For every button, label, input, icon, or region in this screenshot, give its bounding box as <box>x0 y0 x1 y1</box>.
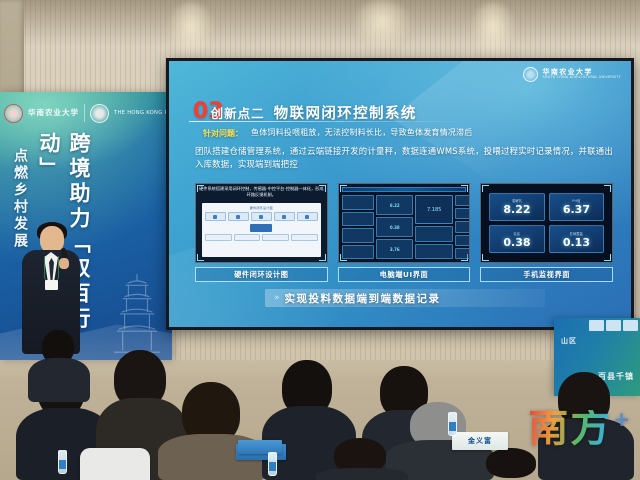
dashboard-tile <box>455 195 470 206</box>
metric-value: 6.37 <box>563 204 590 215</box>
dashboard-col-4 <box>455 195 470 259</box>
diagram-node <box>228 212 249 221</box>
signage-text-1: 山区 <box>561 336 577 346</box>
audience-chair <box>80 448 150 480</box>
dashboard-metric: 8.22 <box>376 195 413 215</box>
dashboard-title-bar <box>342 187 467 192</box>
slide-logo-en: SOUTH CHINA AGRICULTURAL UNIVERSITY <box>542 76 621 80</box>
panel-corner-br <box>604 254 611 261</box>
dashboard-col-3: 7.185 <box>415 195 452 259</box>
panel-phone-monitor: 溶解氧 8.22 PH值 6.37 氨氮 0.38 亚硝酸盐 <box>480 183 613 263</box>
metric-value: 8.22 <box>503 204 530 215</box>
speaker-badge <box>45 280 58 290</box>
metric-label: 亚硝酸盐 <box>570 231 584 236</box>
audience-member <box>470 448 556 480</box>
diagram-node <box>274 212 295 221</box>
scau-seal-icon <box>4 104 23 123</box>
dashboard-tile <box>342 245 374 260</box>
banner-text: 实现投料数据端到端数据记录 <box>285 291 441 306</box>
audience-member <box>158 382 266 480</box>
polyu-seal-icon <box>90 104 109 123</box>
panel1-diagram-title: 硬件闭环设计图 <box>205 206 318 210</box>
slide-logo-text: 华南农业大学 SOUTH CHINA AGRICULTURAL UNIVERSI… <box>542 69 621 80</box>
panel-hardware-diagram: 硬件系统搭建采用闭环控制，传感器-中控平台-控制器一体化，形成环路反馈机制。 硬… <box>195 183 328 263</box>
bottle-label <box>449 422 456 431</box>
metric-value: 0.38 <box>503 237 530 248</box>
water-bottle <box>448 412 457 436</box>
bottle-label <box>269 462 276 471</box>
water-bottle <box>268 452 277 476</box>
audience-member <box>28 330 90 400</box>
metric-card: 氨氮 0.38 <box>489 225 544 253</box>
speaker-hand <box>59 258 69 269</box>
dashboard-metric: 3.76 <box>376 239 413 259</box>
dashboard-tile <box>342 195 374 210</box>
diagram-node <box>234 234 261 241</box>
metric-value: 0.13 <box>563 237 590 248</box>
audience-head <box>486 448 536 478</box>
nameplate: 金义富 <box>452 432 508 450</box>
panel-corner-tl <box>482 185 489 192</box>
dashboard-tile <box>455 208 470 219</box>
panel-corner-tr <box>604 185 611 192</box>
problem-text: 鱼体饲料投喂粗放，无法控制料长比，导致鱼体发育情况滞后 <box>251 127 472 139</box>
ceiling-shadow <box>0 0 640 46</box>
slide-title-underline <box>189 121 469 122</box>
nameplate-text: 金义富 <box>468 436 492 446</box>
signage-thumbnail <box>589 320 604 331</box>
caption-phone-ui: 手机监视界面 <box>480 267 613 282</box>
diagram-central-hub <box>250 224 272 232</box>
news-watermark: 南方+ <box>528 410 632 446</box>
metric-card: PH值 6.37 <box>549 193 605 221</box>
dashboard-tile <box>415 226 452 242</box>
metric-label: 氨氮 <box>514 231 521 236</box>
diagram-node <box>205 212 226 221</box>
backdrop-logo-right-label: THE HONG KONG POLYTECHNIC UNIVERSITY <box>114 110 172 117</box>
signage-thumbnail <box>623 320 638 331</box>
panel1-header-text: 硬件系统搭建采用闭环控制，传感器-中控平台-控制器一体化，形成环路反馈机制。 <box>199 186 324 199</box>
metric-card: 溶解氧 8.22 <box>489 193 544 221</box>
solution-text: 团队搭建仓储管理系统，通过云端链接开发的计量秤，数据连通WMS系统，投喂过程实时… <box>195 145 613 172</box>
backdrop-logo-row: 华南农业大学 THE HONG KONG POLYTECHNIC UNIVERS… <box>4 98 168 128</box>
diagram-node <box>262 234 289 241</box>
panel1-node-row-1 <box>205 212 318 221</box>
slide-kicker: 创新点二 <box>211 103 265 122</box>
slide-panel-row: 硬件系统搭建采用闭环控制，传感器-中控平台-控制器一体化，形成环路反馈机制。 硬… <box>195 183 613 263</box>
watermark-text: 南方 <box>528 410 612 446</box>
diagram-node <box>291 234 318 241</box>
caption-pc-ui: 电脑端UI界面 <box>338 267 471 282</box>
metric-card: 亚硝酸盐 0.13 <box>549 225 605 253</box>
diagram-node <box>251 212 272 221</box>
speaker-lanyard <box>44 256 59 282</box>
watermark-plus: + <box>613 410 632 428</box>
presentation-photo-scene: 华南农业大学 THE HONG KONG POLYTECHNIC UNIVERS… <box>0 0 640 480</box>
logo-divider <box>84 104 85 122</box>
dashboard-tile <box>455 221 470 232</box>
presentation-slide: 华南农业大学 SOUTH CHINA AGRICULTURAL UNIVERSI… <box>169 61 631 327</box>
dashboard-tile <box>342 212 374 227</box>
dashboard-grid: 8.22 0.38 3.76 7.185 <box>342 195 467 259</box>
slide-problem-row: 针对问题： 鱼体饲料投喂粗放，无法控制料长比，导致鱼体发育情况滞后 <box>203 127 603 139</box>
problem-tag-label: 针对问题： <box>203 127 243 139</box>
dashboard-tile <box>455 248 470 259</box>
metric-card-grid: 溶解氧 8.22 PH值 6.37 氨氮 0.38 亚硝酸盐 <box>489 193 604 254</box>
dashboard-tile <box>415 244 452 260</box>
wall-light-2 <box>352 0 412 52</box>
caption-hardware: 硬件闭环设计图 <box>195 267 328 282</box>
backdrop-logo-left-cn: 华南农业大学 <box>28 108 79 117</box>
chevron-right-icon: » <box>274 293 278 303</box>
panel1-node-row-2 <box>205 234 318 241</box>
wall-light-3 <box>470 2 516 62</box>
diagram-node <box>297 212 318 221</box>
audience-shoulders <box>28 358 90 402</box>
slide-university-logo: 华南农业大学 SOUTH CHINA AGRICULTURAL UNIVERSI… <box>523 67 621 82</box>
panel1-diagram: 硬件闭环设计图 <box>202 203 321 257</box>
panel-caption-row: 硬件闭环设计图 电脑端UI界面 手机监视界面 <box>195 267 613 282</box>
wall-light-1 <box>168 2 214 62</box>
water-bottle <box>58 450 67 474</box>
slide-title: 物联网闭环控制系统 <box>274 102 417 123</box>
dashboard-col-2: 8.22 0.38 3.76 <box>376 195 413 259</box>
signage-thumbnail <box>606 320 621 331</box>
signage-thumbnails <box>589 320 638 331</box>
dashboard-tile <box>455 235 470 246</box>
backdrop-logo-right-en: THE HONG KONG POLYTECHNIC UNIVERSITY <box>114 110 172 116</box>
audience-member <box>316 438 408 480</box>
led-screen: 华南农业大学 SOUTH CHINA AGRICULTURAL UNIVERSI… <box>166 58 634 330</box>
dashboard-tile <box>342 228 374 243</box>
dashboard-col-1 <box>342 195 374 259</box>
panel-corner-bl <box>482 254 489 261</box>
dashboard-metric: 0.38 <box>376 217 413 237</box>
slide-bottom-banner: » 实现投料数据端到端数据记录 <box>265 289 545 307</box>
dashboard-chart-panel: 7.185 <box>415 195 452 224</box>
bottle-label <box>59 460 66 469</box>
panel-pc-dashboard: 8.22 0.38 3.76 7.185 <box>338 183 471 263</box>
backdrop-logo-left-label: 华南农业大学 <box>28 108 79 118</box>
university-seal-icon <box>523 67 538 82</box>
audience-shoulders <box>316 468 408 480</box>
diagram-node <box>205 234 232 241</box>
